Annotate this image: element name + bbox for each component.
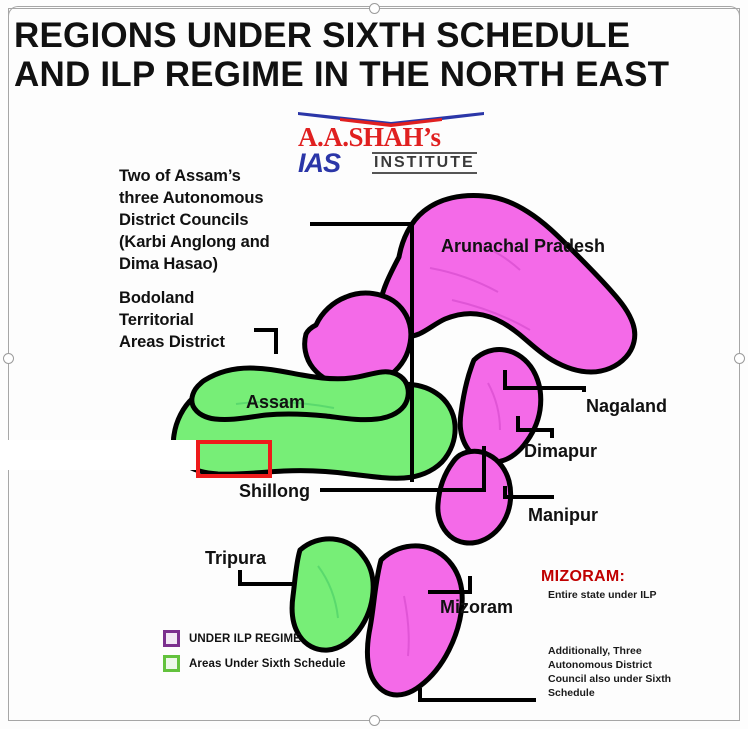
picture-canvas: REGIONS UNDER SIXTH SCHEDULE AND ILP REG… (0, 0, 748, 729)
highlight-selection-box[interactable] (196, 440, 272, 478)
legend-swatch-ilp-icon (163, 630, 180, 647)
map-label-nagaland: Nagaland (586, 396, 667, 417)
map-label-assam: Assam (246, 392, 305, 413)
callout-bodoland-territorial-areas-district: Bodoland Territorial Areas District (119, 288, 225, 354)
north-east-india-map (0, 0, 748, 729)
mizoram-note-subtitle: Entire state under ILP (548, 589, 657, 601)
legend-item-sixth-schedule: Areas Under Sixth Schedule (163, 655, 346, 672)
map-label-arunachal-pradesh: Arunachal Pradesh (441, 236, 605, 257)
map-legend: UNDER ILP REGIME Areas Under Sixth Sched… (163, 630, 346, 680)
region-mizoram (367, 546, 462, 695)
map-label-dimapur: Dimapur (524, 441, 597, 462)
additional-adc-note: Additionally, Three Autonomous District … (548, 645, 671, 700)
legend-item-ilp: UNDER ILP REGIME (163, 630, 346, 647)
map-label-mizoram: Mizoram (440, 597, 513, 618)
map-label-manipur: Manipur (528, 505, 598, 526)
legend-swatch-sixth-schedule-icon (163, 655, 180, 672)
callout-autonomous-district-councils: Two of Assam’s three Autonomous District… (119, 166, 270, 276)
legend-label-sixth-schedule: Areas Under Sixth Schedule (189, 658, 346, 670)
region-arunachal-pradesh (380, 196, 635, 372)
region-manipur (438, 451, 511, 543)
map-label-shillong: Shillong (239, 481, 310, 502)
legend-label-ilp: UNDER ILP REGIME (189, 633, 301, 645)
white-overlay-strip (0, 440, 200, 470)
map-label-tripura: Tripura (205, 548, 266, 569)
mizoram-note-title: MIZORAM: (541, 568, 625, 586)
map-svg (0, 0, 748, 729)
